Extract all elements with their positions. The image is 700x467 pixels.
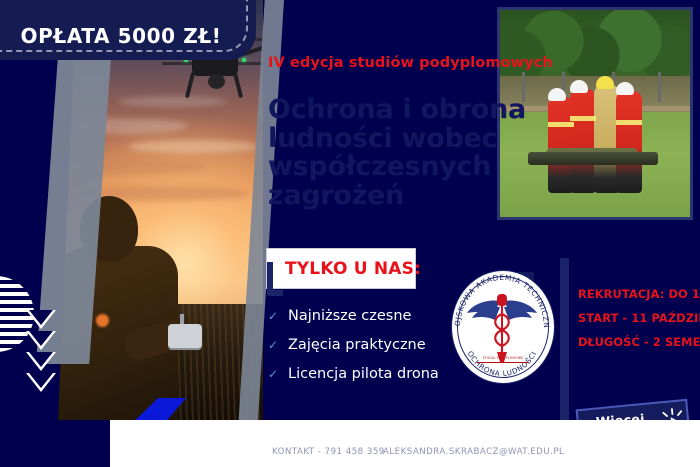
stretcher [528, 152, 658, 165]
list-item: ✓ Zajęcia praktyczne [268, 337, 468, 353]
contact-email: ALEKSANDRA.SKRABACZ@WAT.EDU.PL [383, 447, 564, 457]
recruitment-line-3: DŁUGOŚĆ - 2 SEMESTRY [578, 335, 700, 349]
poster-root: OPŁATA 5000 ZŁ! IV edycja studiów podypl… [0, 0, 700, 467]
corner-bracket-decoration [267, 262, 283, 296]
logo-emblem-svg: WOJSKOWA AKADEMIA TECHNICZNA OCHRONA LUD… [447, 268, 557, 386]
caduceus-top-shield [497, 294, 507, 306]
list-item-label: Zajęcia praktyczne [288, 337, 426, 353]
contact-phone: KONTAKT - 791 458 359 [272, 447, 385, 457]
kicker-text: IV edycja studiów podyplomowych [268, 55, 553, 71]
title-line-2: ludności wobec [268, 125, 500, 154]
recruitment-line-1: REKRUTACJA: DO 14 WRZEŚNIA [578, 287, 700, 301]
vertical-divider-bar [560, 258, 569, 420]
fee-badge-label: OPŁATA 5000 ZŁ! [20, 24, 221, 48]
recruitment-info: REKRUTACJA: DO 14 WRZEŚNIA START - 11 PA… [578, 287, 700, 359]
page-title: Ochrona i obrona ludności wobec współcze… [268, 96, 500, 210]
only-us-heading-box: TYLKO U NAS: [266, 248, 416, 289]
fee-badge: OPŁATA 5000 ZŁ! [0, 0, 256, 60]
rescue-team-stretcher-photo [497, 7, 693, 220]
benefits-list: ✓ Najniższe czesne ✓ Zajęcia praktyczne … [268, 308, 468, 395]
title-line-4: zagrożeń [268, 182, 500, 211]
check-icon: ✓ [268, 309, 288, 323]
footer-navy-block [0, 420, 110, 467]
logo-divider-rule [477, 362, 529, 363]
footer-bar [0, 420, 700, 467]
recruitment-line-2: START - 11 PAŹDZIERNIKA 2025 [578, 311, 700, 325]
list-item-label: Licencja pilota drona [288, 366, 439, 382]
list-item-label: Najniższe czesne [288, 308, 411, 324]
check-icon: ✓ [268, 367, 288, 381]
only-us-heading: TYLKO U NAS: [285, 259, 421, 279]
check-icon: ✓ [268, 338, 288, 352]
list-item: ✓ Licencja pilota drona [268, 366, 468, 382]
triangle-arrows-decoration [26, 310, 56, 394]
logo-inner-text: STUDIA PODYPLOMOWE [475, 356, 531, 360]
wat-university-logo: WOJSKOWA AKADEMIA TECHNICZNA OCHRONA LUD… [447, 268, 557, 386]
cloud-shape [128, 140, 258, 153]
title-line-3: współczesnych [268, 153, 500, 182]
list-item: ✓ Najniższe czesne [268, 308, 468, 324]
title-line-1: Ochrona i obrona [268, 96, 500, 125]
